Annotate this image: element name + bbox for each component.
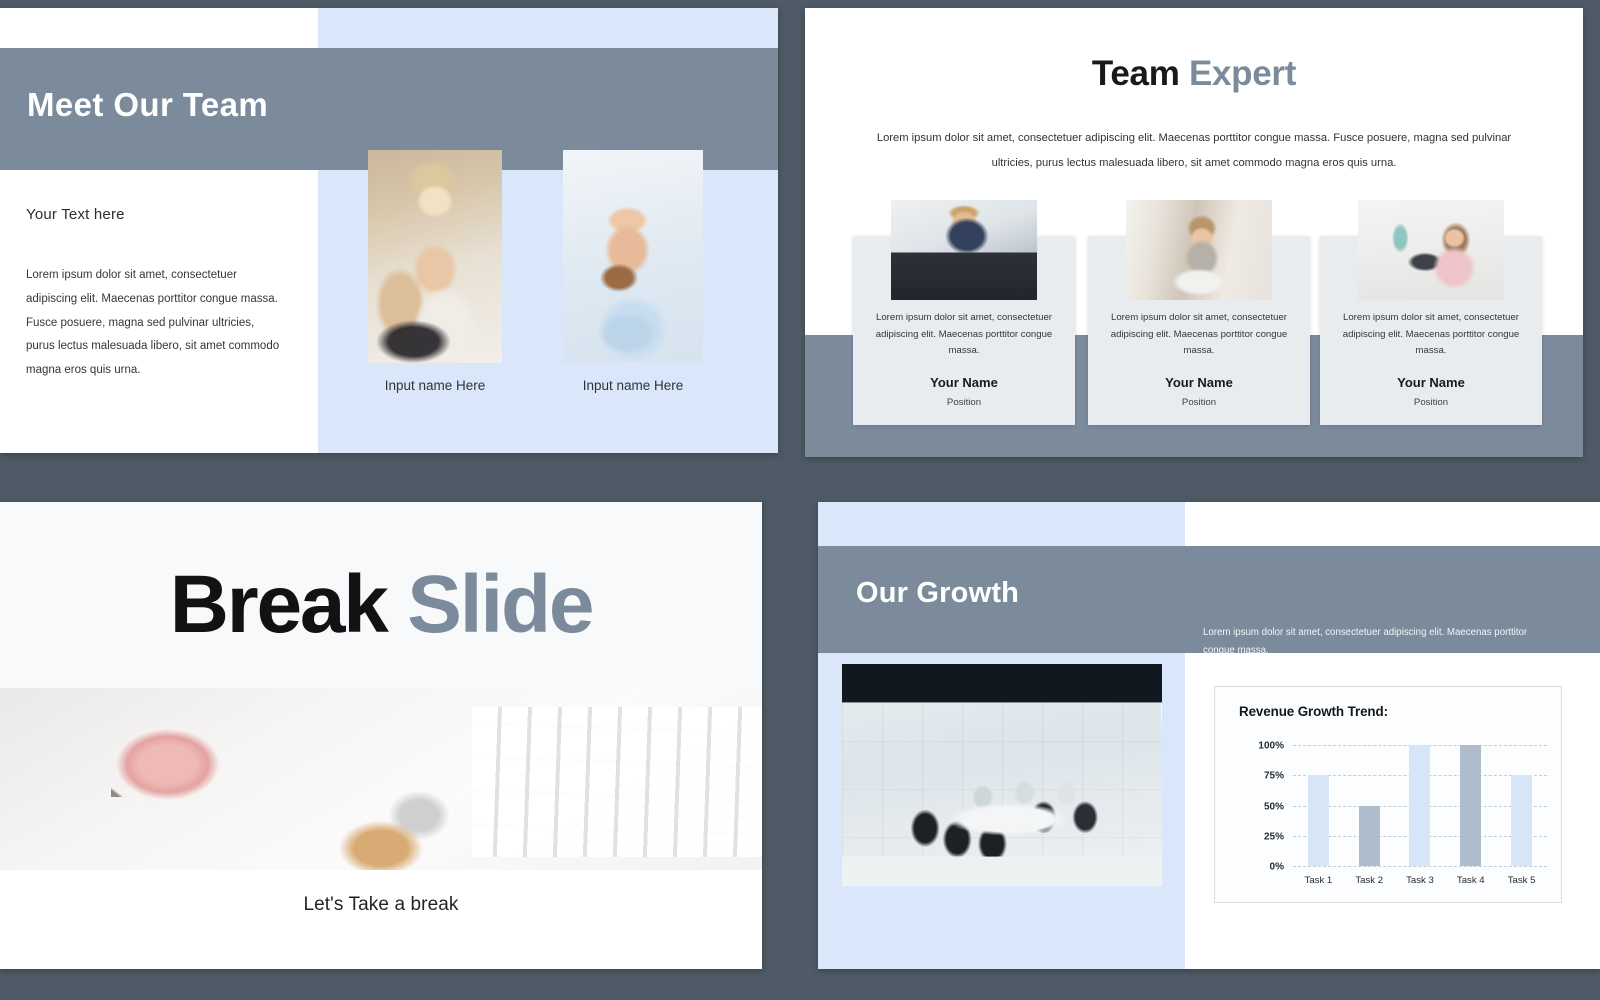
chart-y-tick-label: 0%	[1270, 862, 1284, 873]
chart-y-tick-label: 75%	[1264, 771, 1284, 782]
team-card[interactable]: Lorem ipsum dolor sit amet, consectetuer…	[1320, 236, 1542, 425]
chart-bar	[1460, 745, 1481, 866]
break-caption: Let's Take a break	[0, 894, 762, 916]
page-title-accent: Slide	[407, 559, 592, 650]
chart-x-tick-label: Task 5	[1508, 875, 1536, 886]
team-card-name: Your Name	[853, 375, 1075, 390]
page-title-primary: Team	[1092, 54, 1180, 93]
slide-deck-preview: Meet Our Team Your Text here Lorem ipsum…	[0, 0, 1600, 1000]
chart-bar	[1511, 775, 1532, 866]
chart-bars: Task 1Task 2Task 3Task 4Task 5	[1293, 745, 1547, 866]
chart-bar	[1308, 775, 1329, 866]
slide-meet-our-team[interactable]: Meet Our Team Your Text here Lorem ipsum…	[0, 8, 778, 453]
team-card-name: Your Name	[1320, 375, 1542, 390]
team-card-photo	[891, 200, 1037, 300]
chart-y-tick-label: 100%	[1258, 741, 1284, 752]
chart-bar	[1409, 745, 1430, 866]
chart-bar-column: Task 1	[1294, 745, 1342, 866]
team-card-blurb: Lorem ipsum dolor sit amet, consectetuer…	[1332, 310, 1530, 360]
chart-x-tick-label: Task 4	[1457, 875, 1485, 886]
light-blue-top-band	[818, 502, 1185, 546]
chart-x-tick-label: Task 2	[1355, 875, 1383, 886]
team-card-name: Your Name	[1088, 375, 1310, 390]
page-title-accent: Expert	[1189, 54, 1296, 93]
page-title: Team Expert	[805, 54, 1583, 94]
page-title-primary: Break	[170, 559, 387, 650]
chart-x-tick-label: Task 3	[1406, 875, 1434, 886]
break-photo	[0, 688, 762, 870]
team-member-caption-1: Input name Here	[368, 378, 502, 393]
team-card-role: Position	[1320, 397, 1542, 408]
chart-y-tick-label: 50%	[1264, 801, 1284, 812]
team-member-photo-2	[563, 150, 703, 363]
chart-bar-column: Task 3	[1396, 745, 1444, 866]
team-member-caption-2: Input name Here	[563, 378, 703, 393]
team-member-photo-1	[368, 150, 502, 363]
chart-bar-column: Task 2	[1345, 745, 1393, 866]
team-card-role: Position	[853, 397, 1075, 408]
chart-y-tick-label: 25%	[1264, 831, 1284, 842]
page-title: Meet Our Team	[27, 86, 268, 124]
chart-gridline: 0%	[1293, 866, 1547, 867]
team-card-role: Position	[1088, 397, 1310, 408]
body-paragraph: Lorem ipsum dolor sit amet, consectetuer…	[26, 264, 284, 383]
slide-break[interactable]: Break Slide Let's Take a break	[0, 502, 762, 969]
team-card-photo	[1358, 200, 1504, 300]
chart-title: Revenue Growth Trend:	[1239, 704, 1388, 719]
chart-plot-area: 100%75%50%25%0%Task 1Task 2Task 3Task 4T…	[1293, 745, 1547, 866]
team-card[interactable]: Lorem ipsum dolor sit amet, consectetuer…	[853, 236, 1075, 425]
team-card-photo	[1126, 200, 1272, 300]
intro-paragraph: Lorem ipsum dolor sit amet, consectetuer…	[869, 126, 1519, 176]
page-title: Break Slide	[0, 564, 762, 646]
lead-paragraph: Lorem ipsum dolor sit amet, consectetuer…	[1203, 624, 1533, 660]
caption-area: Let's Take a break	[0, 870, 762, 969]
subheading: Your Text here	[26, 206, 125, 223]
slide-our-growth[interactable]: Our Growth Lorem ipsum dolor sit amet, c…	[818, 502, 1600, 969]
chart-bar-column: Task 5	[1497, 745, 1545, 866]
chart-bar-column: Task 4	[1447, 745, 1495, 866]
chart-bar	[1359, 806, 1380, 867]
page-title: Our Growth	[856, 577, 1019, 610]
team-card-blurb: Lorem ipsum dolor sit amet, consectetuer…	[1100, 310, 1298, 360]
team-card[interactable]: Lorem ipsum dolor sit amet, consectetuer…	[1088, 236, 1310, 425]
team-card-blurb: Lorem ipsum dolor sit amet, consectetuer…	[865, 310, 1063, 360]
chart-x-tick-label: Task 1	[1305, 875, 1333, 886]
office-photo	[842, 664, 1162, 886]
revenue-chart-card[interactable]: Revenue Growth Trend: 100%75%50%25%0%Tas…	[1214, 686, 1562, 903]
slide-team-expert[interactable]: Team Expert Lorem ipsum dolor sit amet, …	[805, 8, 1583, 457]
